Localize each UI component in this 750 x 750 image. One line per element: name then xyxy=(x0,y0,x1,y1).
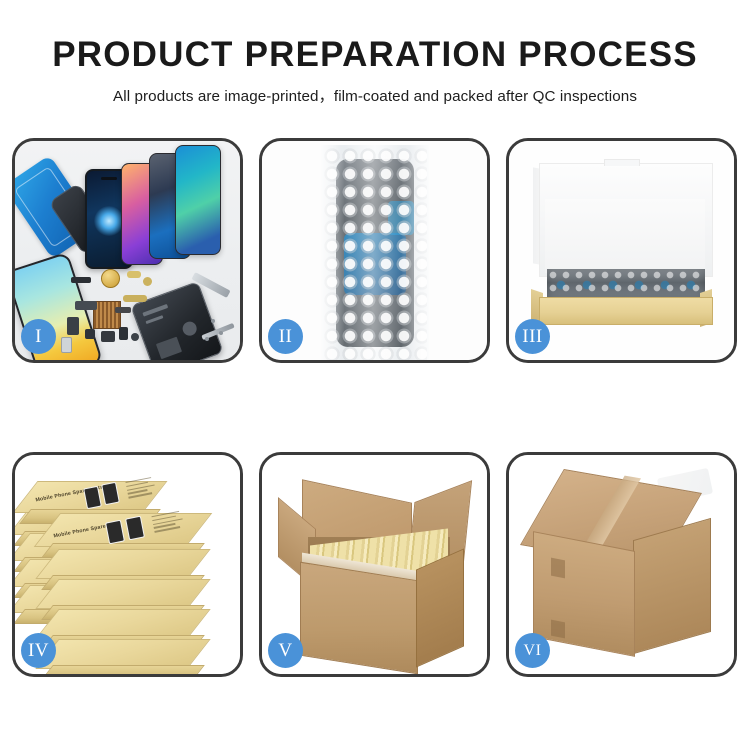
screw xyxy=(219,331,223,335)
film-gloss xyxy=(321,145,429,360)
screw xyxy=(211,319,215,323)
spare-part xyxy=(123,295,147,302)
spare-part xyxy=(131,333,139,341)
process-step-grid: I II xyxy=(0,132,750,702)
spare-part xyxy=(119,327,128,340)
carton-front-face xyxy=(300,562,418,674)
step-badge-1: I xyxy=(21,319,56,354)
step-badge-6: VI xyxy=(515,633,550,668)
retail-box xyxy=(47,609,197,637)
retail-box xyxy=(47,639,197,667)
process-step-6: VI xyxy=(506,452,737,677)
page-title: PRODUCT PREPARATION PROCESS xyxy=(0,0,750,76)
screw xyxy=(205,337,209,341)
spare-part xyxy=(127,271,141,278)
process-step-1: I xyxy=(12,138,243,363)
carton-handle-cut xyxy=(551,558,565,579)
spare-part xyxy=(85,329,95,339)
spare-part xyxy=(115,307,131,313)
carton-front-face xyxy=(533,531,635,657)
process-step-4: Mobile Phone Spare Parts Mobile Phone Sp… xyxy=(12,452,243,677)
packed-parts xyxy=(547,269,705,299)
foam-insert xyxy=(545,199,705,273)
mailer-lid-tab xyxy=(604,159,640,166)
spare-part xyxy=(75,301,97,310)
carton-handle-cut xyxy=(551,620,565,639)
step-badge-2: II xyxy=(268,319,303,354)
step-badge-3: III xyxy=(515,319,550,354)
product-preparation-infographic: PRODUCT PREPARATION PROCESS All products… xyxy=(0,0,750,750)
carton-right-face xyxy=(633,518,711,654)
spare-part xyxy=(67,317,79,335)
page-subtitle: All products are image-printed，film-coat… xyxy=(0,76,750,107)
phone-back-housing xyxy=(130,281,224,360)
header: PRODUCT PREPARATION PROCESS All products… xyxy=(0,0,750,107)
process-step-3: III xyxy=(506,138,737,363)
step-badge-5: V xyxy=(268,633,303,668)
retail-box xyxy=(47,549,197,577)
process-step-2: II xyxy=(259,138,490,363)
retail-box xyxy=(47,579,197,607)
mailer-base xyxy=(539,297,713,325)
chip-component xyxy=(93,301,121,329)
spare-part xyxy=(71,277,91,283)
spare-part xyxy=(61,337,72,353)
speaker-component xyxy=(101,269,120,288)
step-badge-4: IV xyxy=(21,633,56,668)
spare-part xyxy=(101,331,115,342)
process-step-5: V xyxy=(259,452,490,677)
carton-right-face xyxy=(416,548,464,667)
teal-gradient-phone xyxy=(175,145,221,255)
spare-part xyxy=(143,277,152,286)
